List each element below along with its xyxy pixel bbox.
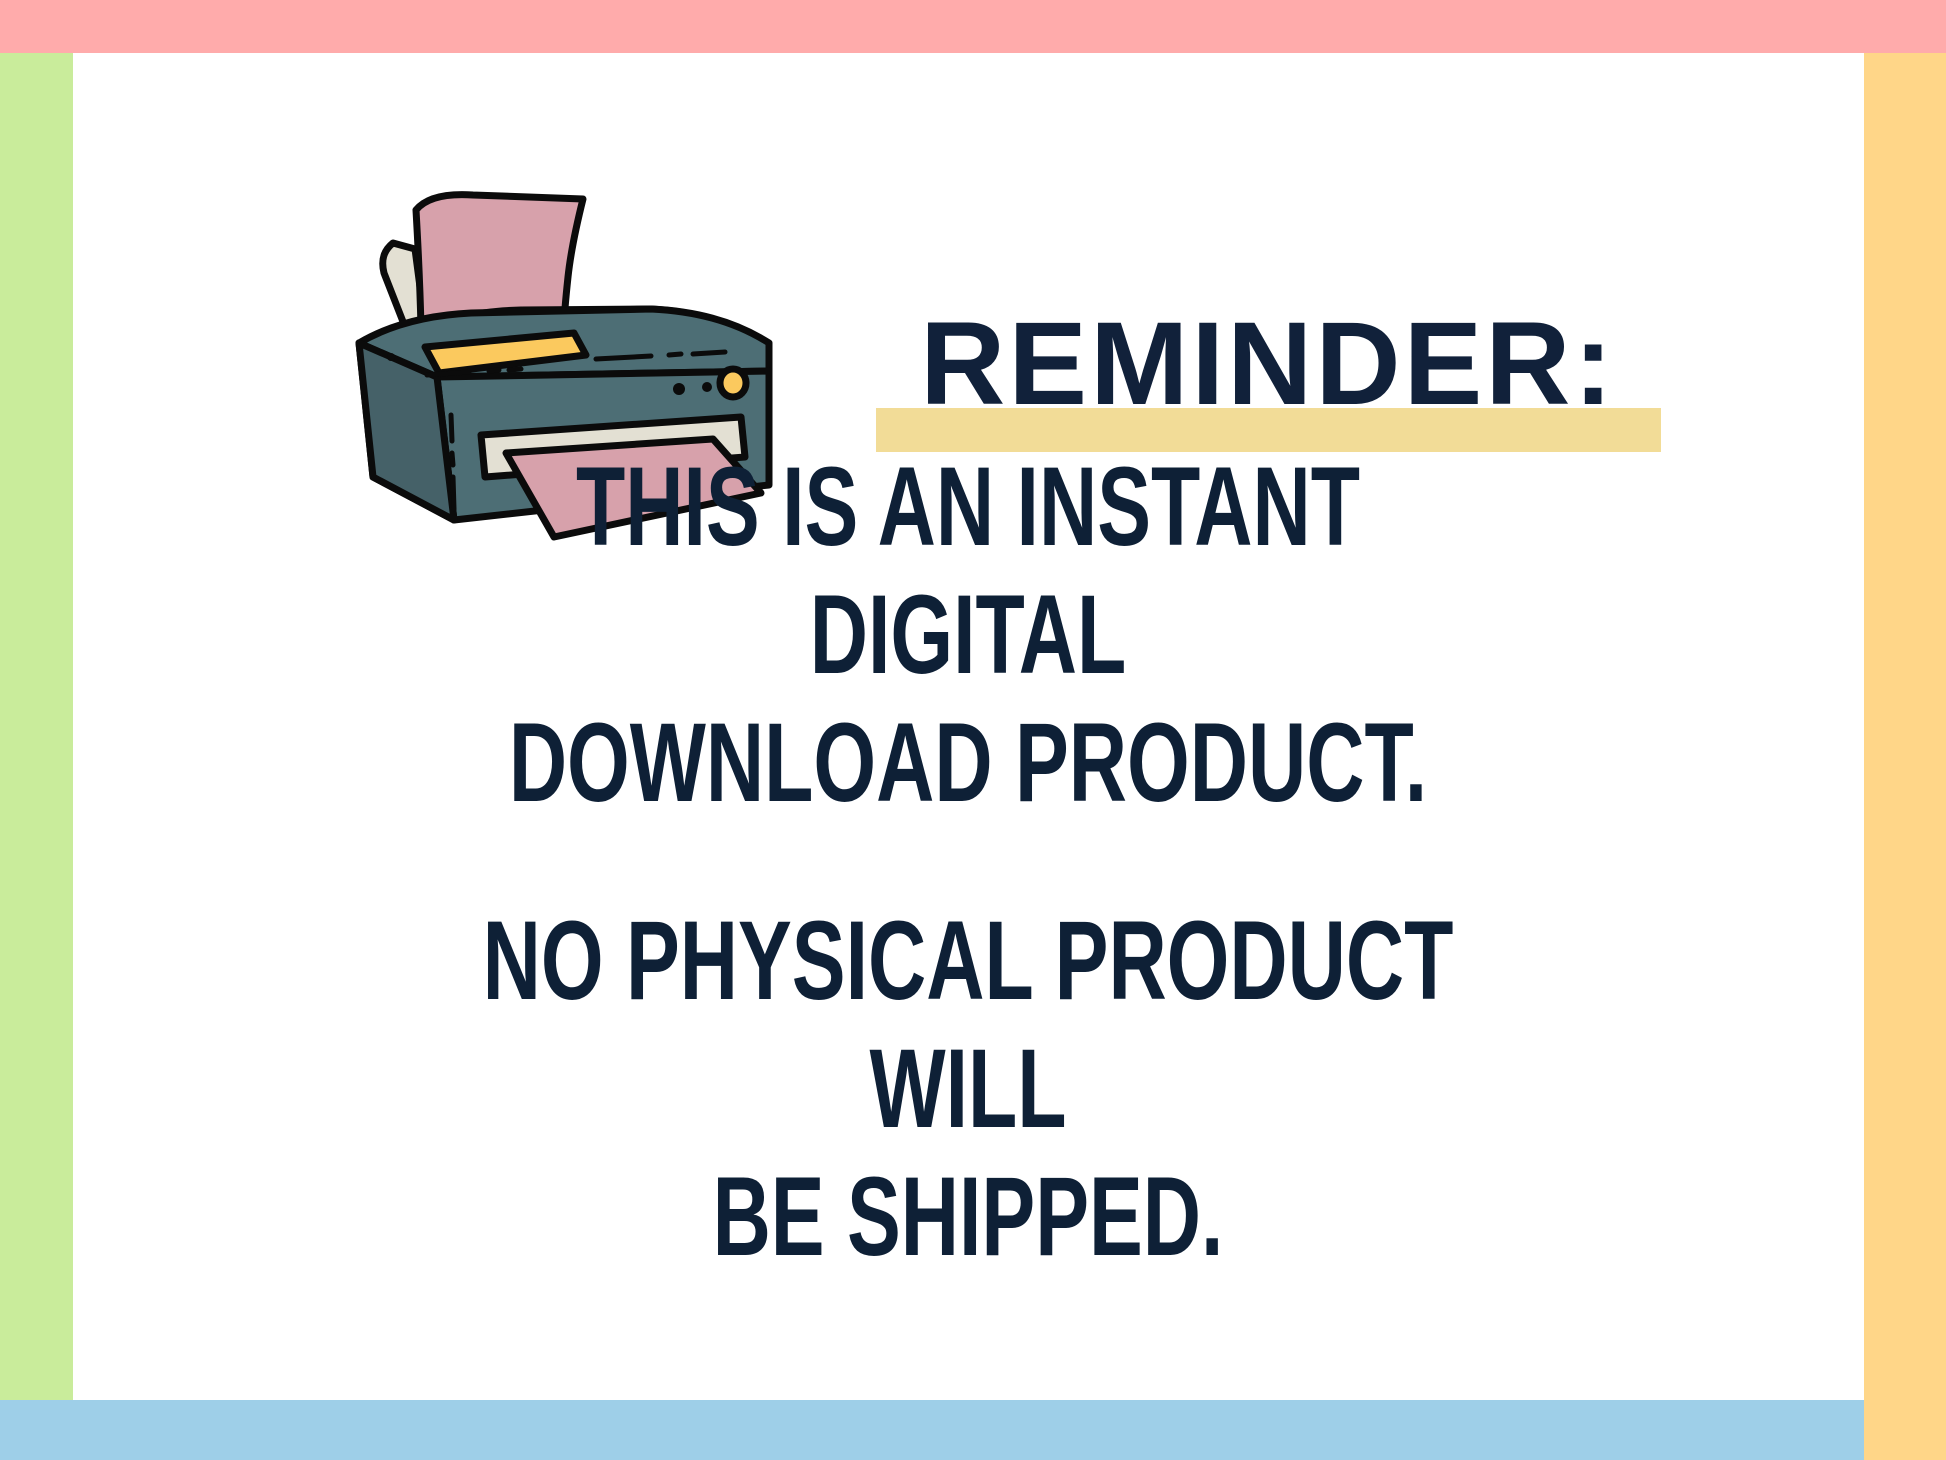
body-paragraph-instant-download: THIS IS AN INSTANT DIGITAL DOWNLOAD PROD… xyxy=(417,443,1519,827)
border-stripe-left xyxy=(0,53,73,1400)
poster-canvas: REMINDER: THIS IS AN INSTANT DIGITAL DOW… xyxy=(0,0,1946,1460)
headline-group: REMINDER: xyxy=(868,275,1668,455)
paragraph-spacer xyxy=(203,827,1733,897)
border-stripe-top xyxy=(0,0,1946,53)
border-stripe-right xyxy=(1864,53,1946,1460)
body-paragraph-no-shipping: NO PHYSICAL PRODUCT WILL BE SHIPPED. xyxy=(417,897,1519,1281)
border-stripe-bottom xyxy=(0,1400,1864,1460)
body-copy: THIS IS AN INSTANT DIGITAL DOWNLOAD PROD… xyxy=(203,443,1733,1281)
page-title: REMINDER: xyxy=(868,275,1668,453)
content-card: REMINDER: THIS IS AN INSTANT DIGITAL DOW… xyxy=(73,53,1864,1400)
